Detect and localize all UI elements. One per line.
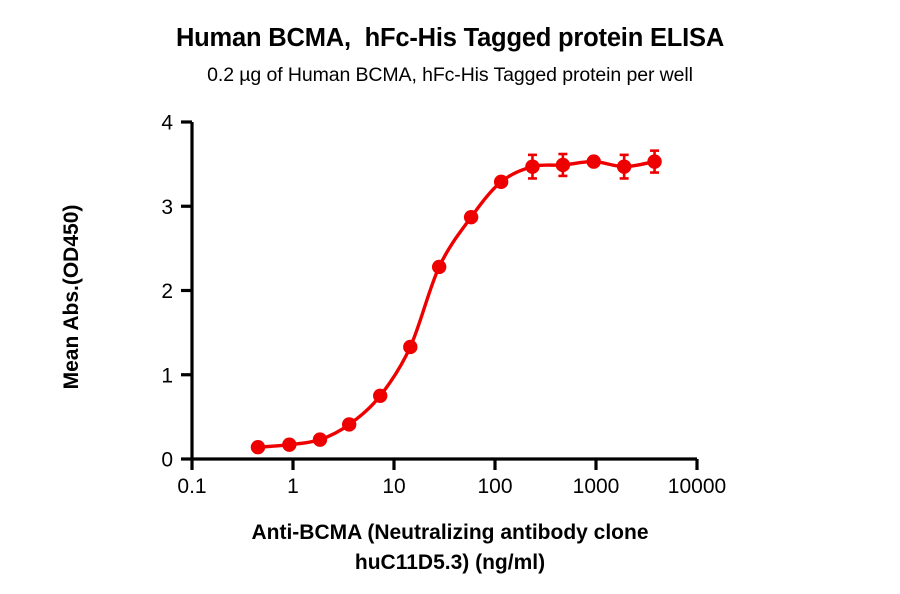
data-point-marker: [282, 437, 296, 451]
data-point-marker: [464, 210, 478, 224]
data-point-marker: [373, 389, 387, 403]
y-axis-ticks: 01234: [161, 112, 192, 472]
data-point-marker: [251, 440, 265, 454]
elisa-chart-figure: Human BCMA, hFc-His Tagged protein ELISA…: [0, 0, 900, 594]
y-tick-label: 2: [161, 280, 173, 303]
x-tick-label: 100: [477, 475, 512, 498]
fit-curve: [258, 162, 655, 448]
data-point-marker: [432, 260, 446, 274]
y-tick-label: 3: [161, 196, 173, 219]
data-point-marker: [494, 175, 508, 189]
x-tick-label: 0.1: [177, 475, 206, 498]
data-point-marker: [342, 417, 356, 431]
data-points: [251, 154, 662, 454]
data-point-marker: [313, 432, 327, 446]
data-point-marker: [556, 158, 570, 172]
x-axis-ticks: 0.1110100100010000: [177, 459, 726, 498]
data-point-marker: [403, 340, 417, 354]
y-tick-label: 1: [161, 364, 173, 387]
x-tick-label: 10000: [668, 475, 726, 498]
x-tick-label: 10: [382, 475, 405, 498]
y-tick-label: 0: [161, 449, 173, 472]
x-tick-label: 1000: [573, 475, 620, 498]
x-tick-label: 1: [287, 475, 299, 498]
data-point-marker: [587, 154, 601, 168]
y-tick-label: 4: [161, 112, 173, 135]
plot-area: 01234 0.1110100100010000: [0, 0, 900, 594]
data-point-marker: [647, 154, 661, 168]
data-point-marker: [617, 159, 631, 173]
data-point-marker: [525, 159, 539, 173]
